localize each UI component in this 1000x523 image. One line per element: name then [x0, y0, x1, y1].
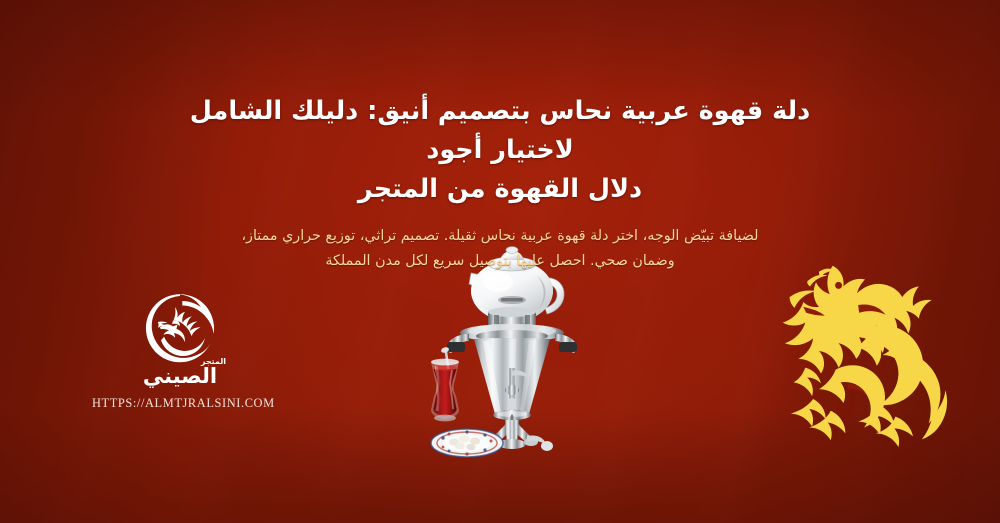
brand-url[interactable]: HTTPS://ALMTJRALSINI.COM	[92, 396, 268, 411]
subtitle: لضيافة تبيّض الوجه، اختر دلة قهوة عربية …	[220, 224, 780, 274]
dragon-head-circle-icon	[143, 292, 217, 366]
page-title: دلة قهوة عربية نحاس بتصميم أنيق: دليلك ا…	[0, 92, 1000, 208]
promo-banner: دلة قهوة عربية نحاس بتصميم أنيق: دليلك ا…	[0, 0, 1000, 523]
headline-line-1: دلة قهوة عربية نحاس بتصميم أنيق: دليلك ا…	[190, 96, 810, 165]
brand-names: المتجر الصيني	[92, 360, 268, 394]
chinese-dragon-icon	[768, 252, 964, 452]
headline-line-2: دلال القهوة من المتجر	[358, 174, 642, 204]
headline-block: دلة قهوة عربية نحاس بتصميم أنيق: دليلك ا…	[0, 92, 1000, 274]
brand-name-main: الصيني	[92, 365, 268, 387]
brand-logo[interactable]: المتجر الصيني HTTPS://ALMTJRALSINI.COM	[92, 292, 268, 422]
